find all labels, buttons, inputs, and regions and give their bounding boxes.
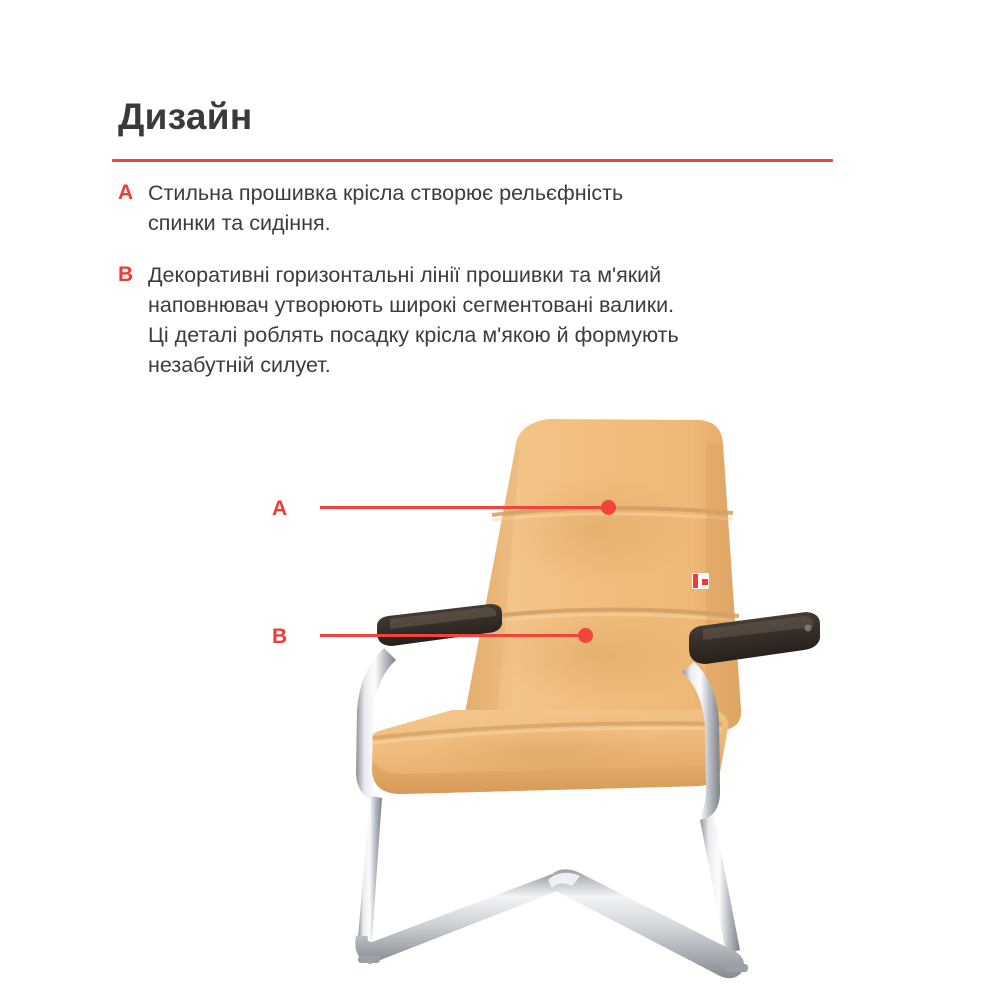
title-divider <box>112 159 833 162</box>
feature-item-b: B Декоративні горизонтальні лінії прошив… <box>118 260 918 380</box>
callout-b-leader-line <box>320 634 585 637</box>
callout-b-letter: B <box>272 626 287 647</box>
base-rail-left <box>355 874 560 964</box>
chair-illustration <box>0 380 1000 990</box>
page-title: Дизайн <box>118 98 252 135</box>
callout-a-dot <box>601 500 616 515</box>
product-image <box>0 380 1000 990</box>
feature-key-b: B <box>118 260 148 290</box>
brand-logo-badge <box>692 573 709 589</box>
callout-a-leader-line <box>320 506 608 509</box>
chair-seat <box>365 710 728 794</box>
feature-key-a: A <box>118 178 148 208</box>
feature-item-a: A Стильна прошивка крісла створює рельєф… <box>118 178 918 238</box>
feature-list: A Стильна прошивка крісла створює рельєф… <box>118 178 918 402</box>
callout-a-letter: A <box>272 498 287 519</box>
feature-text-a: Стильна прошивка крісла створює рельєфні… <box>148 178 918 238</box>
feature-text-b: Декоративні горизонтальні лінії прошивки… <box>148 260 918 380</box>
chair-base-frame <box>355 796 748 978</box>
callout-b-dot <box>578 628 593 643</box>
product-design-infographic: Дизайн A Стильна прошивка крісла створює… <box>0 0 1000 1000</box>
